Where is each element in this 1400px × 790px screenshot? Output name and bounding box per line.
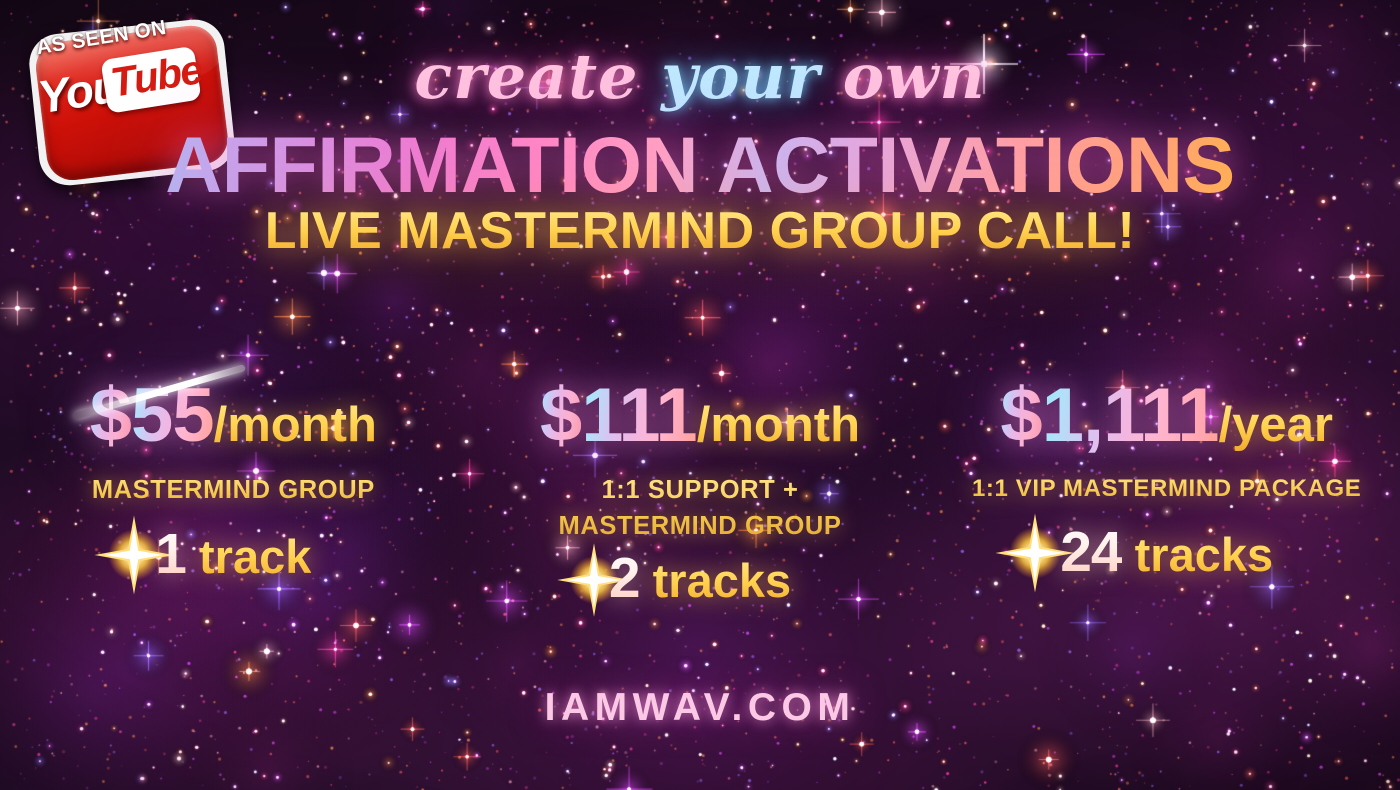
tracks-label: tracks [640,554,792,607]
price-amount: 1,111 [1042,373,1219,458]
tier-description-line: 1:1 VIP MASTERMIND PACKAGE [933,472,1400,506]
pricing-tier-1[interactable]: $55/month MASTERMIND GROUP [0,378,467,583]
tracks-count: 2 [609,546,640,610]
price-row: $1,111/year [1000,378,1333,454]
page-title: AFFIRMATION ACTIVATIONS [0,125,1400,204]
price-currency: $ [1000,373,1041,458]
tracks-label: track [186,530,311,583]
price-amount: 111 [581,373,696,458]
tracks-row: 2 tracks [609,550,791,607]
pricing-tiers: $55/month MASTERMIND GROUP [0,378,1400,618]
tier-description: 1:1 VIP MASTERMIND PACKAGE [933,472,1400,506]
price-currency: $ [90,373,131,458]
tracks-label: tracks [1122,528,1274,581]
price-period: /month [214,398,377,452]
script-tagline-post: own [820,40,985,113]
tracks-row: 24 tracks [1060,524,1273,581]
tier-description-line: MASTERMIND GROUP [0,472,467,508]
tracks-count: 1 [155,522,186,586]
price-period: /year [1219,398,1333,452]
page-subtitle: LIVE MASTERMIND GROUP CALL! [0,205,1400,257]
price-currency: $ [540,373,581,458]
price-row: $111/month [540,378,860,454]
script-tagline-accent: your [661,40,820,113]
price-row: $55/month [90,378,377,454]
website-url[interactable]: IAMWAV.COM [0,686,1400,730]
tier-description: MASTERMIND GROUP [0,472,467,508]
price-period: /month [697,398,860,452]
script-tagline: create your own [0,46,1400,108]
script-tagline-pre: create [414,40,661,113]
pricing-tier-2[interactable]: $111/month 1:1 SUPPORT + MASTERMIND GROU… [467,378,934,607]
tracks-row: 1 track [155,526,311,583]
tracks-count: 24 [1060,520,1121,584]
poster-canvas: AS SEEN ON You Tube create your own AFFI… [0,0,1400,790]
tier-description: 1:1 SUPPORT + MASTERMIND GROUP [467,472,934,544]
tier-description-line: 1:1 SUPPORT + [467,472,934,508]
tier-description-line: MASTERMIND GROUP [467,508,934,544]
pricing-tier-3[interactable]: $1,111/year 1:1 VIP MASTERMIND PACKAGE [933,378,1400,581]
